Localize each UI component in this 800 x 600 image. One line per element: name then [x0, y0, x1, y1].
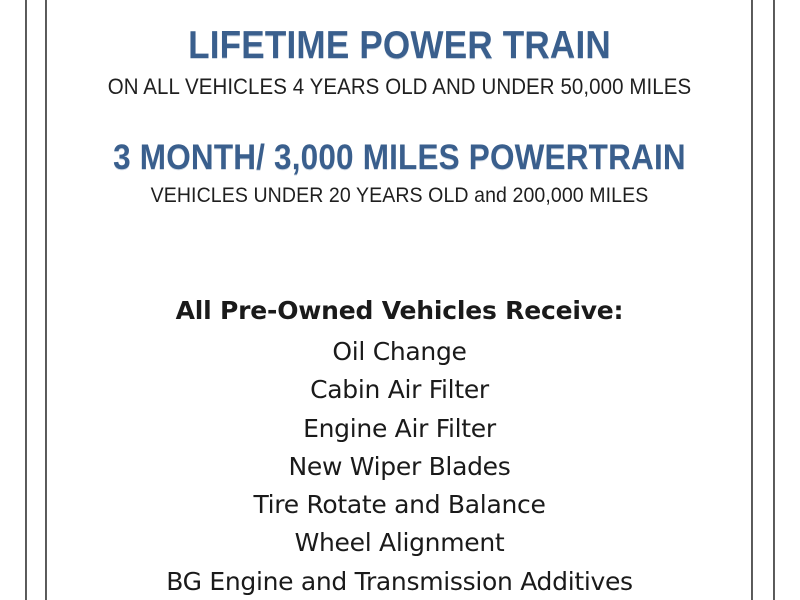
warranty-subline-three-month: VEHICLES UNDER 20 YEARS OLD and 200,000 … — [73, 184, 727, 207]
border-rule-left-inner — [45, 0, 47, 600]
warranty-headline-lifetime: LIFETIME POWER TRAIN — [83, 26, 716, 67]
services-heading: All Pre-Owned Vehicles Receive: — [48, 298, 751, 323]
service-item: BG Engine and Transmission Additives — [48, 563, 751, 600]
warranty-headline-three-month: 3 MONTH/ 3,000 MILES POWERTRAIN — [83, 140, 716, 176]
service-item: Engine Air Filter — [48, 410, 751, 448]
service-item: New Wiper Blades — [48, 448, 751, 486]
service-item: Oil Change — [48, 333, 751, 371]
service-item: Wheel Alignment — [48, 524, 751, 562]
warranty-block-lifetime: LIFETIME POWER TRAIN ON ALL VEHICLES 4 Y… — [48, 26, 751, 99]
services-list: Oil Change Cabin Air Filter Engine Air F… — [48, 333, 751, 600]
warranty-subline-lifetime: ON ALL VEHICLES 4 YEARS OLD AND UNDER 50… — [73, 75, 727, 99]
border-rule-right-inner — [751, 0, 753, 600]
flyer-content: LIFETIME POWER TRAIN ON ALL VEHICLES 4 Y… — [48, 0, 751, 600]
service-item: Cabin Air Filter — [48, 371, 751, 409]
services-section: All Pre-Owned Vehicles Receive: Oil Chan… — [48, 298, 751, 600]
border-rule-left-outer — [25, 0, 27, 600]
warranty-block-three-month: 3 MONTH/ 3,000 MILES POWERTRAIN VEHICLES… — [48, 140, 751, 207]
border-rule-right-outer — [773, 0, 775, 600]
service-item: Tire Rotate and Balance — [48, 486, 751, 524]
flyer-canvas: LIFETIME POWER TRAIN ON ALL VEHICLES 4 Y… — [0, 0, 800, 600]
